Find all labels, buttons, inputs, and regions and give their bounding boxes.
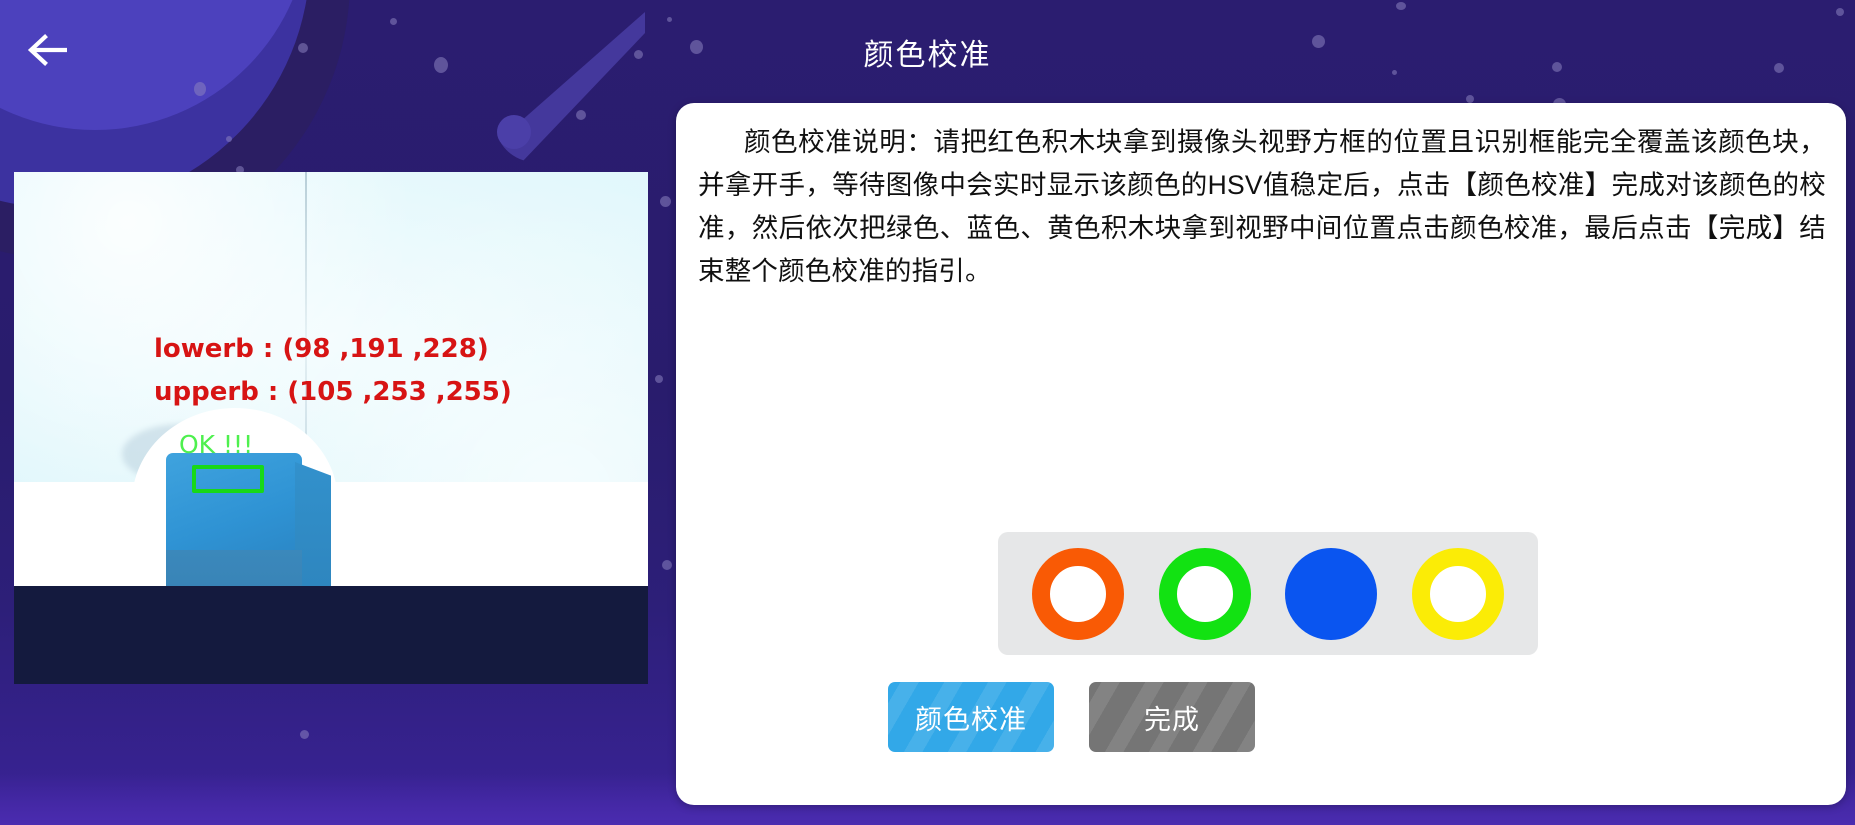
detection-rectangle <box>192 465 264 493</box>
color-swatch-panel <box>998 532 1538 655</box>
color-swatch-blue[interactable] <box>1285 548 1377 640</box>
color-swatch-red[interactable] <box>1032 548 1124 640</box>
lowerb-readout: lowerb : (98 ,191 ,228) <box>154 334 489 364</box>
star <box>660 196 671 207</box>
instruction-card: 颜色校准说明：请把红色积木块拿到摄像头视野方框的位置且识别框能完全覆盖该颜色块，… <box>676 103 1846 805</box>
calibrate-button[interactable]: 颜色校准 <box>888 682 1054 752</box>
finish-button-label: 完成 <box>1144 698 1200 737</box>
header-bar: 颜色校准 <box>0 0 1855 103</box>
star <box>655 375 663 383</box>
detection-status-text: OK !!! <box>179 430 253 459</box>
color-calibration-screen: 颜色校准 lowerb : (98 ,191 ,228) upperb : (1… <box>0 0 1855 825</box>
star <box>662 560 672 570</box>
instruction-text: 颜色校准说明：请把红色积木块拿到摄像头视野方框的位置且识别框能完全覆盖该颜色块，… <box>698 121 1826 293</box>
star <box>576 110 586 120</box>
calibrate-button-label: 颜色校准 <box>915 698 1027 737</box>
star <box>226 136 232 142</box>
camera-preview-panel: lowerb : (98 ,191 ,228) upperb : (105 ,2… <box>14 172 648 684</box>
blue-cube-front-face <box>166 550 302 586</box>
action-button-row: 颜色校准 完成 <box>888 682 1628 752</box>
comet-head <box>497 115 531 149</box>
upperb-readout: upperb : (105 ,253 ,255) <box>154 377 512 407</box>
finish-button[interactable]: 完成 <box>1089 682 1255 752</box>
page-title: 颜色校准 <box>0 30 1855 74</box>
camera-feed: lowerb : (98 ,191 ,228) upperb : (105 ,2… <box>14 172 648 586</box>
color-swatch-green[interactable] <box>1159 548 1251 640</box>
color-swatch-yellow[interactable] <box>1412 548 1504 640</box>
star <box>300 730 309 739</box>
